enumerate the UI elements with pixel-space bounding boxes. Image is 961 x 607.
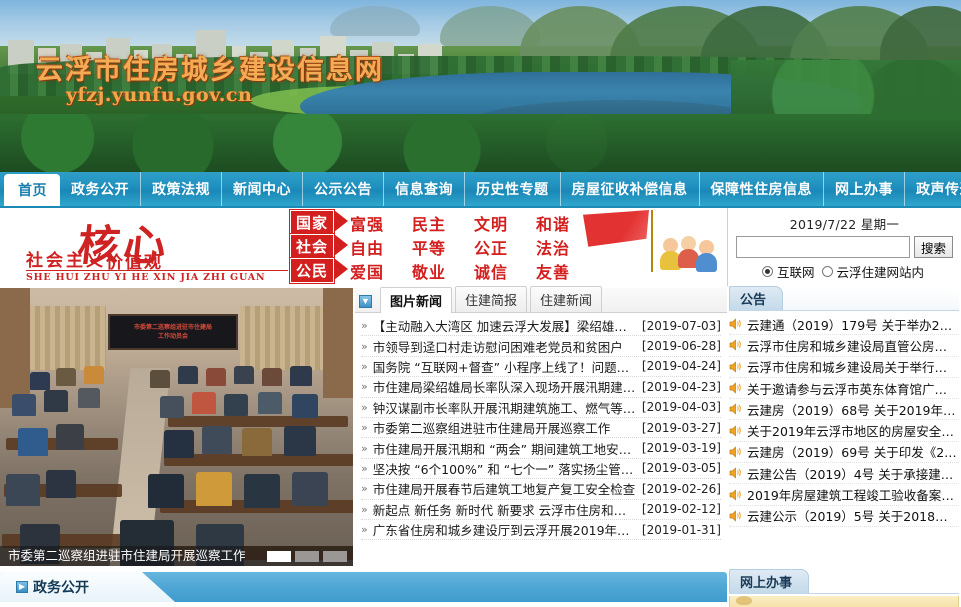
core-values-rows: 国家 富强民主文明和谐 社会 自由平等公正法治 公民 爱国敬业诚信友善 [290,211,598,283]
government-info-title[interactable]: 政务公开 [33,577,89,597]
core-value-word: 友善 [536,259,598,283]
news-item-title[interactable]: 市住建局开展汛期和 “两会” 期间建筑工地安… [373,439,636,458]
announcement-item[interactable]: 关于邀请参与云浮市英东体育馆广场… [729,378,959,399]
announcement-title[interactable]: 2019年房屋建筑工程竣工验收备案表… [747,485,959,504]
search-panel: 2019/7/22 星期一 搜索 互联网 云浮住建网站内 [728,208,961,286]
photo-dot[interactable] [295,551,319,562]
core-value-word: 敬业 [412,259,474,283]
bullet-icon: » [361,340,368,353]
announcement-item[interactable]: 云浮市住房和城乡建设局直管公房商… [729,335,959,356]
photo-curtain-left [30,306,106,370]
values-and-search-row: 核心 社会主义 价值观 SHE HUI ZHU YI HE XIN JIA ZH… [0,208,961,286]
photo-image: 市委第二巡察组进驻市住建局 工作动员会 [0,288,353,566]
core-values-words: 自由平等公正法治 [350,235,598,259]
nav-item-expropriation[interactable]: 房屋征收补偿信息 [561,172,700,206]
page-root: 云浮市住房城乡建设信息网 yfzj.yunfu.gov.cn 首页 政务公开 政… [0,0,961,607]
announcements-list: 云建通（2019）179号 关于举办2019… 云浮市住房和城乡建设局直管公房商… [729,311,959,527]
search-scope-group: 互联网 云浮住建网站内 [734,258,955,281]
search-input[interactable] [736,236,910,258]
speaker-icon [729,467,743,479]
news-item-title[interactable]: 钟汉谋副市长率队开展汛期建筑施工、燃气等… [373,398,636,417]
bottom-sections: ▶ 政务公开 网上办事 [0,568,961,607]
core-values-words: 富强民主文明和谐 [350,211,598,235]
core-values-tag: 国家 [290,210,334,235]
search-scope-internet-radio[interactable] [762,266,773,277]
banner-foliage-lower [0,114,961,172]
core-values-row-country: 国家 富强民主文明和谐 [290,211,598,234]
news-list-item[interactable]: » 【主动融入大湾区 加速云浮大发展】梁绍雄… [2019-07-03] [361,316,721,336]
core-values-logo: 核心 社会主义 价值观 SHE HUI ZHU YI HE XIN JIA ZH… [22,212,294,282]
nav-item-online-services[interactable]: 网上办事 [824,172,905,206]
core-value-word: 平等 [412,235,474,259]
news-item-title[interactable]: 市住建局梁绍雄局长率队深入现场开展汛期建… [373,377,636,396]
government-info-section: ▶ 政务公开 [0,572,727,607]
china-flag-icon [583,210,649,250]
tab-housing-news[interactable]: 住建新闻 [530,286,602,312]
online-services-body [729,596,959,607]
news-list-item[interactable]: » 国务院 “互联网+督查” 小程序上线了！问题… [2019-04-24] [361,357,721,377]
announcement-title[interactable]: 云浮市住房和城乡建设局关于举行《… [747,357,959,376]
nav-item-government-info[interactable]: 政务公开 [60,172,141,206]
tab-housing-brief[interactable]: 住建简报 [455,286,527,312]
core-values-banner[interactable]: 核心 社会主义 价值观 SHE HUI ZHU YI HE XIN JIA ZH… [0,208,728,286]
photo-news-slideshow[interactable]: 市委第二巡察组进驻市住建局 工作动员会 [0,288,353,566]
announcement-item[interactable]: 云浮市住房和城乡建设局关于举行《… [729,357,959,378]
bullet-icon: » [361,401,368,414]
news-item-date: [2019-03-19] [642,441,721,455]
bullet-icon: » [361,523,368,536]
news-list-item[interactable]: » 市领导到迳口村走访慰问困难老党员和贫困户 [2019-06-28] [361,336,721,356]
announcement-title[interactable]: 云建公告（2019）4号 关于承接建设… [747,464,959,483]
speaker-icon [729,361,743,373]
core-values-tag: 社会 [290,234,334,259]
news-list-item[interactable]: » 市住建局开展汛期和 “两会” 期间建筑工地安… [2019-03-19] [361,438,721,458]
expand-icon[interactable]: ▼ [359,295,372,308]
news-item-date: [2019-01-31] [642,523,721,537]
photo-dot[interactable] [267,551,291,562]
bullet-icon: » [361,360,368,373]
speaker-icon [729,403,743,415]
announcement-item[interactable]: 关于2019年云浮市地区的房屋安全鉴… [729,420,959,441]
children-illustration [657,236,719,280]
core-value-word: 自由 [350,235,412,259]
government-info-header: ▶ 政务公开 [0,572,727,602]
core-value-word: 民主 [412,211,474,235]
core-value-word: 公正 [474,235,536,259]
speaker-icon [729,446,743,458]
news-item-date: [2019-04-03] [642,400,721,414]
announcement-item[interactable]: 云建公告（2019）4号 关于承接建设… [729,463,959,484]
announcement-title[interactable]: 云建公示（2019）5号 关于2018年增… [747,506,959,525]
speaker-icon [729,510,743,522]
photo-curtain-right [240,306,326,370]
photo-stage-banner: 市委第二巡察组进驻市住建局 工作动员会 [108,314,238,350]
photo-stage-banner-text: 市委第二巡察组进驻市住建局 工作动员会 [110,316,236,341]
chevron-right-icon: ▶ [16,581,28,593]
news-item-title[interactable]: 新起点 新任务 新时代 新要求 云浮市住房和… [373,500,636,519]
announcement-item[interactable]: 云建房（2019）68号 关于2019年5月… [729,399,959,420]
nav-item-home[interactable]: 首页 [4,174,60,206]
news-list-item[interactable]: » 市住建局开展春节后建筑工地复产复工安全检查 [2019-02-26] [361,479,721,499]
news-list-item[interactable]: » 市住建局梁绍雄局长率队深入现场开展汛期建… [2019-04-23] [361,377,721,397]
bullet-icon: » [361,442,368,455]
nav-item-gov-voice[interactable]: 政声传递 [905,172,961,206]
news-item-date: [2019-04-24] [642,359,721,373]
main-navigation: 首页 政务公开 政策法规 新闻中心 公示公告 信息查询 历史性专题 房屋征收补偿… [0,172,961,208]
announcements-header: 公告 [729,288,959,311]
core-value-word: 爱国 [350,259,412,283]
news-item-date: [2019-06-28] [642,339,721,353]
core-value-word: 诚信 [474,259,536,283]
core-values-row-society: 社会 自由平等公正法治 [290,235,598,258]
search-button[interactable]: 搜索 [914,236,953,258]
announcements-panel: 公告 云建通（2019）179号 关于举办2019… 云浮市住房和城乡建设局直管… [729,288,959,568]
news-list-item[interactable]: » 广东省住房和城乡建设厅到云浮开展2019年春… [2019-01-31] [361,520,721,540]
photo-wall-right [323,288,353,398]
news-item-date: [2019-02-12] [642,502,721,516]
announcement-title[interactable]: 云建房（2019）68号 关于2019年5月… [747,400,959,419]
main-content: 市委第二巡察组进驻市住建局 工作动员会 [0,286,961,568]
news-item-title[interactable]: 市委第二巡察组进驻市住建局开展巡察工作 [373,418,636,437]
flag-pole [651,210,653,272]
photo-pagination[interactable] [267,551,347,562]
news-item-date: [2019-02-26] [642,482,721,496]
site-title: 云浮市住房城乡建设信息网 [36,48,384,87]
announcement-title[interactable]: 云建通（2019）179号 关于举办2019… [747,315,959,334]
nav-item-history-topics[interactable]: 历史性专题 [465,172,561,206]
photo-dot[interactable] [323,551,347,562]
core-values-pinyin: SHE HUI ZHU YI HE XIN JIA ZHI GUAN [26,270,288,283]
search-scope-internet-label[interactable]: 互联网 [777,262,815,281]
core-values-left-text: 社会主义 [26,246,106,271]
announcement-title[interactable]: 云建房（2019）69号 关于印发《2019… [747,442,959,461]
bullet-icon: » [361,319,368,332]
news-list-item[interactable]: » 钟汉谋副市长率队开展汛期建筑施工、燃气等… [2019-04-03] [361,398,721,418]
news-tabs: ▼ 图片新闻 住建简报 住建新闻 [355,288,727,313]
core-value-word: 富强 [350,211,412,235]
photo-wall-left [0,288,30,408]
bullet-icon: » [361,482,368,495]
news-item-date: [2019-03-27] [642,421,721,435]
bullet-icon: » [361,421,368,434]
speaker-icon [729,489,743,501]
announcement-title[interactable]: 云浮市住房和城乡建设局直管公房商… [747,336,959,355]
site-url: yfzj.yunfu.gov.cn [66,84,252,106]
site-banner: 云浮市住房城乡建设信息网 yfzj.yunfu.gov.cn [0,0,961,172]
news-item-date: [2019-07-03] [642,319,721,333]
current-date: 2019/7/22 星期一 [734,212,955,236]
online-services-section: 网上办事 [729,572,959,607]
search-row: 搜索 [734,236,955,258]
decorative-icon [736,596,752,605]
core-values-row-citizen: 公民 爱国敬业诚信友善 [290,259,598,282]
news-item-title[interactable]: 国务院 “互联网+督查” 小程序上线了！问题… [373,357,636,376]
news-item-title[interactable]: 市住建局开展春节后建筑工地复产复工安全检查 [373,479,636,498]
announcement-title[interactable]: 关于邀请参与云浮市英东体育馆广场… [747,379,959,398]
news-panel: ▼ 图片新闻 住建简报 住建新闻 » 【主动融入大湾区 加速云浮大发展】梁绍雄…… [355,288,727,568]
nav-item-info-query[interactable]: 信息查询 [384,172,465,206]
news-item-date: [2019-03-05] [642,461,721,475]
announcement-item[interactable]: 2019年房屋建筑工程竣工验收备案表… [729,484,959,505]
news-item-title[interactable]: 市领导到迳口村走访慰问困难老党员和贫困户 [373,337,636,356]
news-list-item[interactable]: » 坚决按 “6个100%” 和 “七个一” 落实扬尘管… [2019-03-0… [361,459,721,479]
speaker-icon [729,318,743,330]
nav-item-affordable-housing[interactable]: 保障性住房信息 [700,172,825,206]
announcement-item[interactable]: 云建房（2019）69号 关于印发《2019… [729,442,959,463]
news-list-item[interactable]: » 新起点 新任务 新时代 新要求 云浮市住房和… [2019-02-12] [361,500,721,520]
speaker-icon [729,425,743,437]
news-item-title[interactable]: 【主动融入大湾区 加速云浮大发展】梁绍雄… [373,316,636,335]
bullet-icon: » [361,462,368,475]
online-services-title[interactable]: 网上办事 [729,569,809,593]
core-values-words: 爱国敬业诚信友善 [350,259,598,283]
government-info-title-group: ▶ 政务公开 [16,577,89,597]
speaker-icon [729,382,743,394]
bullet-icon: » [361,503,368,516]
core-values-tag: 公民 [290,258,334,283]
search-scope-site-label[interactable]: 云浮住建网站内 [837,262,925,281]
announcement-item[interactable]: 云建通（2019）179号 关于举办2019… [729,314,959,335]
announcement-item[interactable]: 云建公示（2019）5号 关于2018年增… [729,506,959,527]
news-list: » 【主动融入大湾区 加速云浮大发展】梁绍雄… [2019-07-03] » 市… [355,313,727,540]
nav-item-policy-rules[interactable]: 政策法规 [141,172,222,206]
nav-item-news-center[interactable]: 新闻中心 [222,172,303,206]
announcement-title[interactable]: 关于2019年云浮市地区的房屋安全鉴… [747,421,959,440]
news-list-item[interactable]: » 市委第二巡察组进驻市住建局开展巡察工作 [2019-03-27] [361,418,721,438]
news-item-title[interactable]: 坚决按 “6个100%” 和 “七个一” 落实扬尘管… [373,459,636,478]
news-item-date: [2019-04-23] [642,380,721,394]
core-value-word: 文明 [474,211,536,235]
search-scope-site-radio[interactable] [822,266,833,277]
news-item-title[interactable]: 广东省住房和城乡建设厅到云浮开展2019年春… [373,520,636,539]
online-services-header: 网上办事 [729,572,959,594]
announcements-title[interactable]: 公告 [729,286,783,310]
speaker-icon [729,339,743,351]
bullet-icon: » [361,380,368,393]
nav-item-public-notices[interactable]: 公示公告 [303,172,384,206]
tab-photo-news[interactable]: 图片新闻 [380,287,452,313]
